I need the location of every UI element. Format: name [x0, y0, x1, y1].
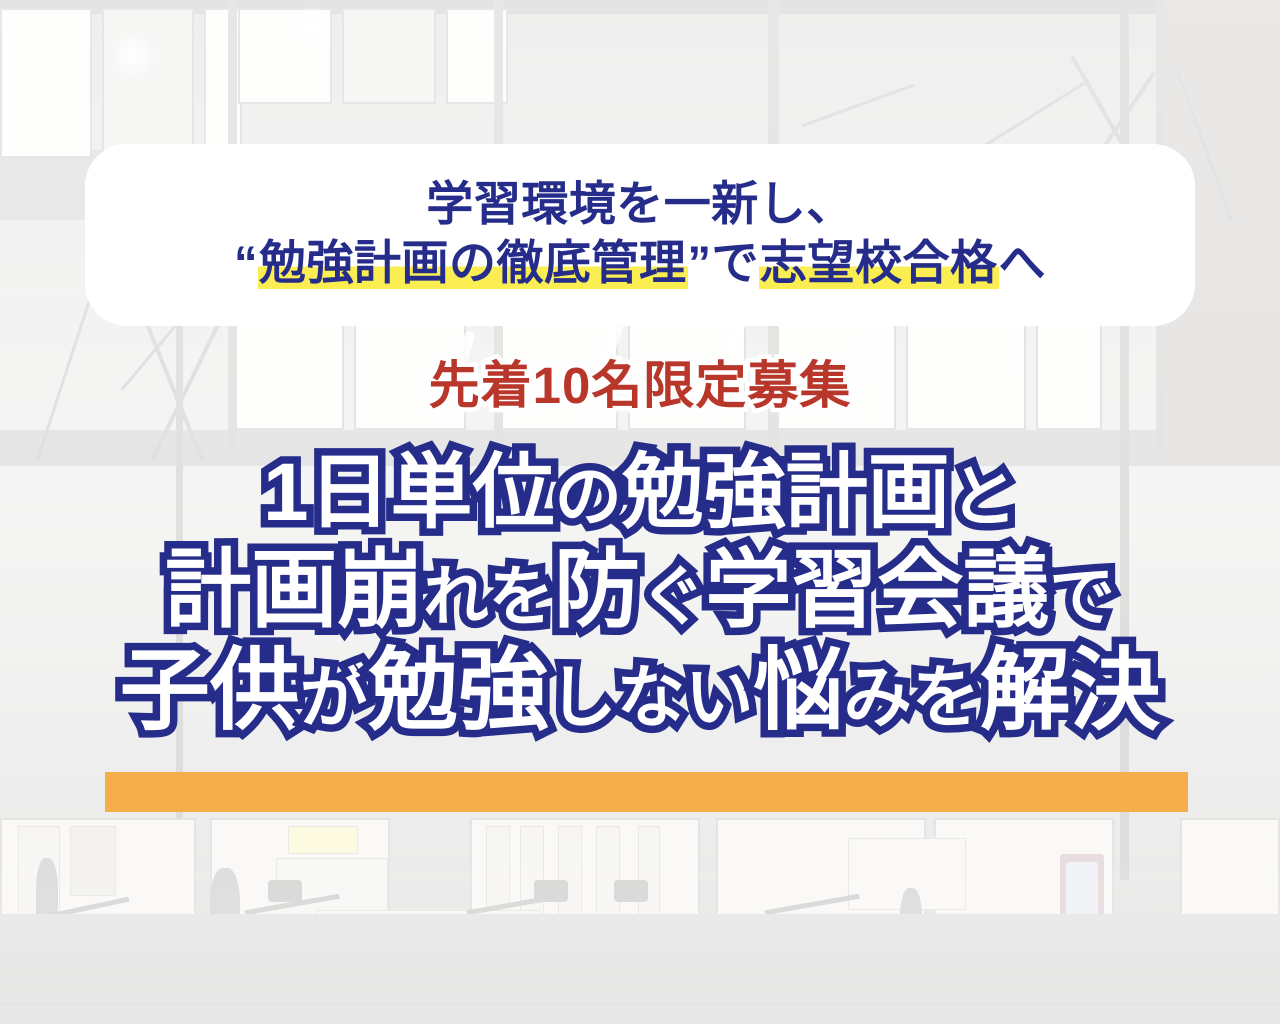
headline-card-line-1: 学習環境を一新し、 — [426, 180, 854, 227]
main-headline-line-1: 1日単位の勉強計画と — [0, 452, 1280, 534]
headline-card: 学習環境を一新し、 “勉強計画の徹底管理”で志望校合格へ — [85, 144, 1195, 326]
quote-close-de: ”で — [688, 236, 760, 289]
particle-e: へ — [999, 236, 1047, 289]
mh2-kana3: で — [1049, 560, 1114, 633]
main-headline-line-3: 子供が勉強しない悩みを解決 — [0, 646, 1280, 736]
mh2-k2: 防 — [554, 542, 640, 638]
mh1-kana1: の — [555, 460, 622, 535]
mh3-kana1: が — [300, 660, 368, 736]
main-headline-line-2: 計画崩れを防ぐ学習会議で — [0, 547, 1280, 633]
mh1-kana2: と — [950, 460, 1017, 535]
mh3-kana2: しない — [548, 660, 753, 736]
headline-card-line-2: “勉強計画の徹底管理”で志望校合格へ — [234, 239, 1046, 286]
mh2-kana2: ぐ — [640, 560, 705, 633]
quote-open: “ — [234, 236, 258, 289]
mh3-k1: 子供 — [120, 641, 300, 741]
limited-offer-text: 先着10名限定募集 — [0, 360, 1280, 411]
mh1-k1: 1日単位 — [263, 447, 555, 538]
mh2-k1: 計画崩 — [165, 542, 423, 638]
hero-banner: 学習環境を一新し、 “勉強計画の徹底管理”で志望校合格へ 先着10名限定募集 1… — [0, 0, 1280, 1024]
orange-highlight-bar — [105, 772, 1188, 812]
mh3-kana3: みを — [843, 660, 980, 736]
main-headline: 1日単位の勉強計画と 計画崩れを防ぐ学習会議で 子供が勉強しない悩みを解決 — [0, 452, 1280, 736]
mh2-k3: 学習会議 — [705, 542, 1049, 638]
highlight-study-plan: 勉強計画の徹底管理 — [258, 236, 688, 289]
mh3-k3: 悩 — [753, 641, 843, 741]
highlight-target-school: 志望校合格 — [759, 236, 999, 289]
hero-content: 学習環境を一新し、 “勉強計画の徹底管理”で志望校合格へ 先着10名限定募集 1… — [0, 0, 1280, 1024]
mh3-k2: 勉強 — [368, 641, 548, 741]
mh3-k4: 解決 — [980, 641, 1160, 741]
mh1-k2: 勉強計画 — [622, 447, 950, 538]
mh2-kana1: れを — [423, 560, 554, 633]
